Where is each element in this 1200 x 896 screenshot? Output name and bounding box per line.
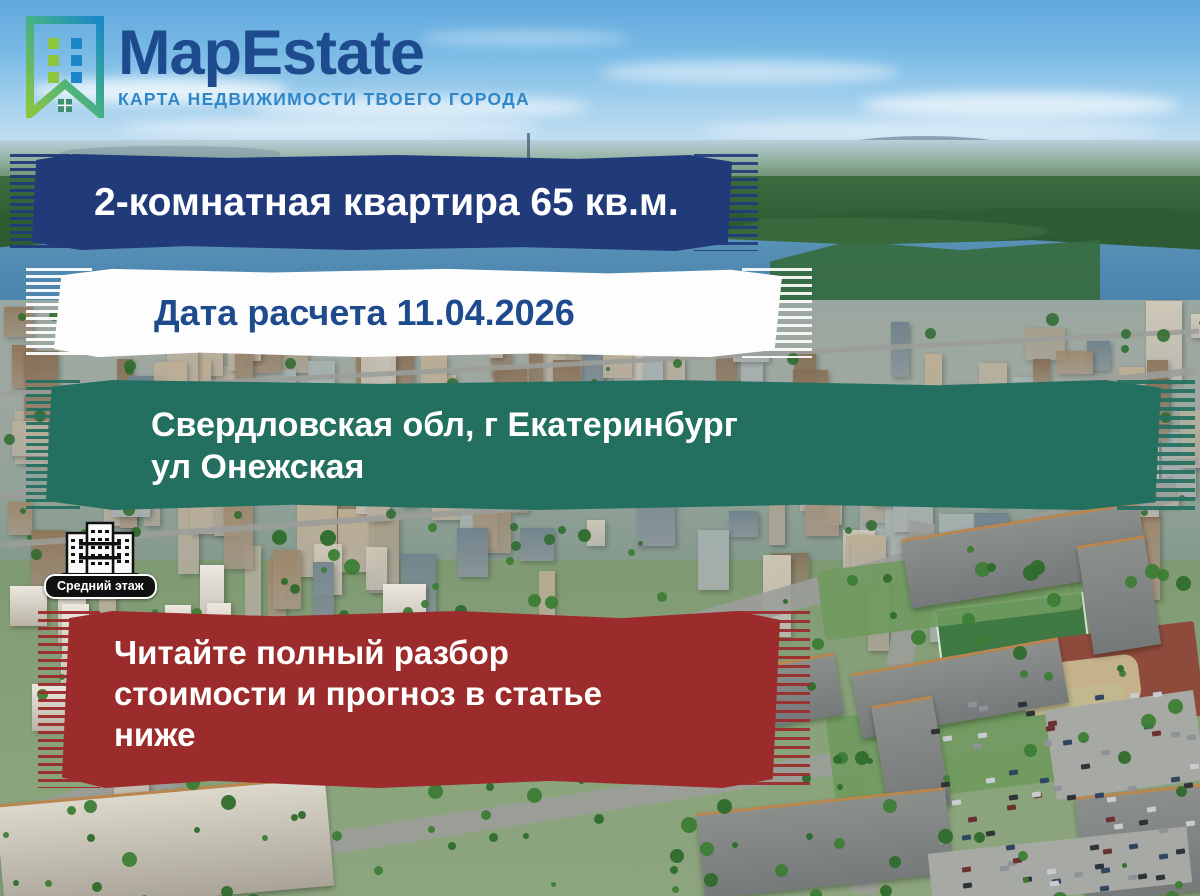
tree	[481, 810, 491, 820]
building	[457, 528, 488, 577]
property-title: 2-комнатная квартира 65 кв.м.	[32, 154, 732, 227]
tree	[594, 814, 604, 824]
tree	[1121, 345, 1129, 353]
tree	[320, 530, 336, 546]
address-banner: Свердловская обл, г Екатеринбург ул Онеж…	[46, 380, 1161, 510]
tree	[321, 567, 327, 573]
tree	[511, 541, 521, 551]
tree	[558, 526, 566, 534]
tree	[1125, 576, 1137, 588]
tree	[1121, 329, 1131, 339]
brand-name: MapEstate	[118, 24, 530, 84]
tree	[962, 613, 975, 626]
tree	[1122, 863, 1127, 868]
cloud	[600, 60, 900, 84]
tree	[606, 367, 610, 371]
tree	[670, 866, 678, 874]
brand-logo[interactable]: MapEstate КАРТА НЕДВИЖИМОСТИ ТВОЕГО ГОРО…	[26, 16, 530, 118]
tree	[1160, 412, 1171, 423]
tree	[812, 638, 824, 650]
tree	[704, 873, 718, 887]
tree	[943, 775, 950, 782]
tree	[18, 313, 26, 321]
tree	[847, 575, 858, 586]
tree	[3, 832, 9, 838]
tree	[938, 829, 953, 844]
tree	[673, 359, 682, 368]
building	[1033, 359, 1050, 382]
tree	[285, 358, 296, 369]
tree	[125, 366, 134, 375]
tree	[428, 826, 435, 833]
tree	[37, 689, 48, 700]
tree	[775, 864, 788, 877]
cloud	[120, 118, 540, 138]
tree	[976, 636, 986, 646]
tree	[672, 886, 679, 893]
tree	[987, 563, 996, 572]
calculation-date-text: Дата расчета 11.04.2026	[54, 268, 782, 336]
building	[8, 502, 32, 535]
tree	[806, 833, 813, 840]
tree	[1175, 881, 1183, 889]
tree	[20, 508, 26, 514]
tree	[1117, 665, 1124, 672]
tree	[911, 630, 926, 645]
tree	[681, 817, 697, 833]
tree	[700, 842, 714, 856]
tree	[523, 833, 529, 839]
tree	[489, 833, 498, 842]
tree	[510, 523, 518, 531]
tree	[328, 549, 340, 561]
tree	[528, 594, 541, 607]
tree	[4, 434, 15, 445]
tree	[1157, 329, 1170, 342]
calculation-date-banner: Дата расчета 11.04.2026	[54, 268, 782, 358]
tree	[802, 774, 811, 783]
tree	[428, 523, 437, 532]
tree	[1044, 672, 1053, 681]
tree	[810, 889, 822, 896]
tree	[1176, 576, 1191, 591]
tree	[421, 600, 429, 608]
tree	[1023, 565, 1039, 581]
tree	[221, 886, 233, 896]
tree	[883, 799, 897, 813]
tree	[45, 880, 52, 887]
tree	[448, 842, 456, 850]
brand-text: MapEstate КАРТА НЕДВИЖИМОСТИ ТВОЕГО ГОРО…	[118, 24, 530, 110]
tree	[234, 511, 242, 519]
building	[4, 307, 33, 337]
tree	[332, 831, 342, 841]
tree	[262, 835, 268, 841]
tree	[1018, 851, 1028, 861]
cta-text: Читайте полный разбор стоимости и прогно…	[62, 611, 780, 756]
tree	[889, 856, 901, 868]
tree	[880, 885, 892, 896]
building	[729, 511, 758, 537]
tree	[732, 842, 738, 848]
building	[1191, 314, 1200, 338]
tree	[925, 328, 936, 339]
tree	[1023, 877, 1029, 883]
apartment-building-icon	[59, 519, 141, 581]
brand-tagline: КАРТА НЕДВИЖИМОСТИ ТВОЕГО ГОРОДА	[118, 89, 530, 110]
tree	[67, 806, 76, 815]
tree	[1047, 593, 1061, 607]
tree	[374, 866, 383, 875]
tree	[87, 834, 95, 842]
floor-badge-label: Средний этаж	[44, 574, 157, 599]
tree	[221, 795, 236, 810]
building	[698, 530, 729, 590]
tree	[1020, 670, 1028, 678]
tree	[386, 509, 396, 519]
tree	[344, 559, 360, 575]
tree	[13, 880, 19, 886]
tree	[855, 751, 869, 765]
cta-banner[interactable]: Читайте полный разбор стоимости и прогно…	[62, 611, 780, 788]
tree	[789, 357, 793, 361]
tree	[657, 592, 667, 602]
tree	[717, 799, 732, 814]
tree	[883, 574, 892, 583]
tree	[1145, 564, 1160, 579]
tree	[1118, 751, 1131, 764]
tree	[1168, 699, 1183, 714]
bookmark-building-icon	[26, 16, 104, 118]
floor-badge: Средний этаж	[44, 519, 157, 599]
tree	[281, 578, 288, 585]
tree	[272, 530, 287, 545]
tree	[551, 882, 556, 887]
tree	[1141, 714, 1156, 729]
tree	[974, 832, 985, 843]
tree	[1046, 313, 1059, 326]
tree	[27, 535, 32, 540]
tree	[670, 849, 684, 863]
tree	[967, 546, 974, 553]
tree	[92, 882, 102, 892]
tree	[506, 557, 514, 565]
building	[10, 586, 47, 626]
tree	[638, 541, 643, 546]
tree	[1078, 732, 1089, 743]
tree	[291, 814, 298, 821]
building	[1056, 351, 1093, 374]
tree	[1176, 786, 1187, 797]
tree	[84, 800, 97, 813]
building	[12, 421, 48, 456]
tree	[578, 529, 591, 542]
tree	[290, 584, 300, 594]
tree	[837, 784, 843, 790]
cloud	[860, 92, 1180, 118]
tree	[298, 811, 306, 819]
tree	[432, 583, 439, 590]
tree	[1024, 744, 1037, 757]
tree	[527, 788, 542, 803]
tree	[544, 534, 555, 545]
tree	[1013, 646, 1027, 660]
tree	[807, 682, 816, 691]
tree	[845, 527, 852, 534]
tree	[34, 410, 46, 422]
property-banner: 2-комнатная квартира 65 кв.м.	[32, 154, 732, 251]
tree	[628, 549, 635, 556]
tree	[833, 755, 842, 764]
promo-card: MapEstate КАРТА НЕДВИЖИМОСТИ ТВОЕГО ГОРО…	[0, 0, 1200, 896]
address-text: Свердловская обл, г Екатеринбург ул Онеж…	[46, 380, 1161, 488]
tree	[834, 838, 845, 849]
tree	[545, 596, 558, 609]
tree	[31, 549, 42, 560]
tree	[194, 827, 200, 833]
tree	[890, 612, 897, 619]
tree	[866, 520, 877, 531]
tree	[783, 599, 788, 604]
tree	[122, 852, 137, 867]
